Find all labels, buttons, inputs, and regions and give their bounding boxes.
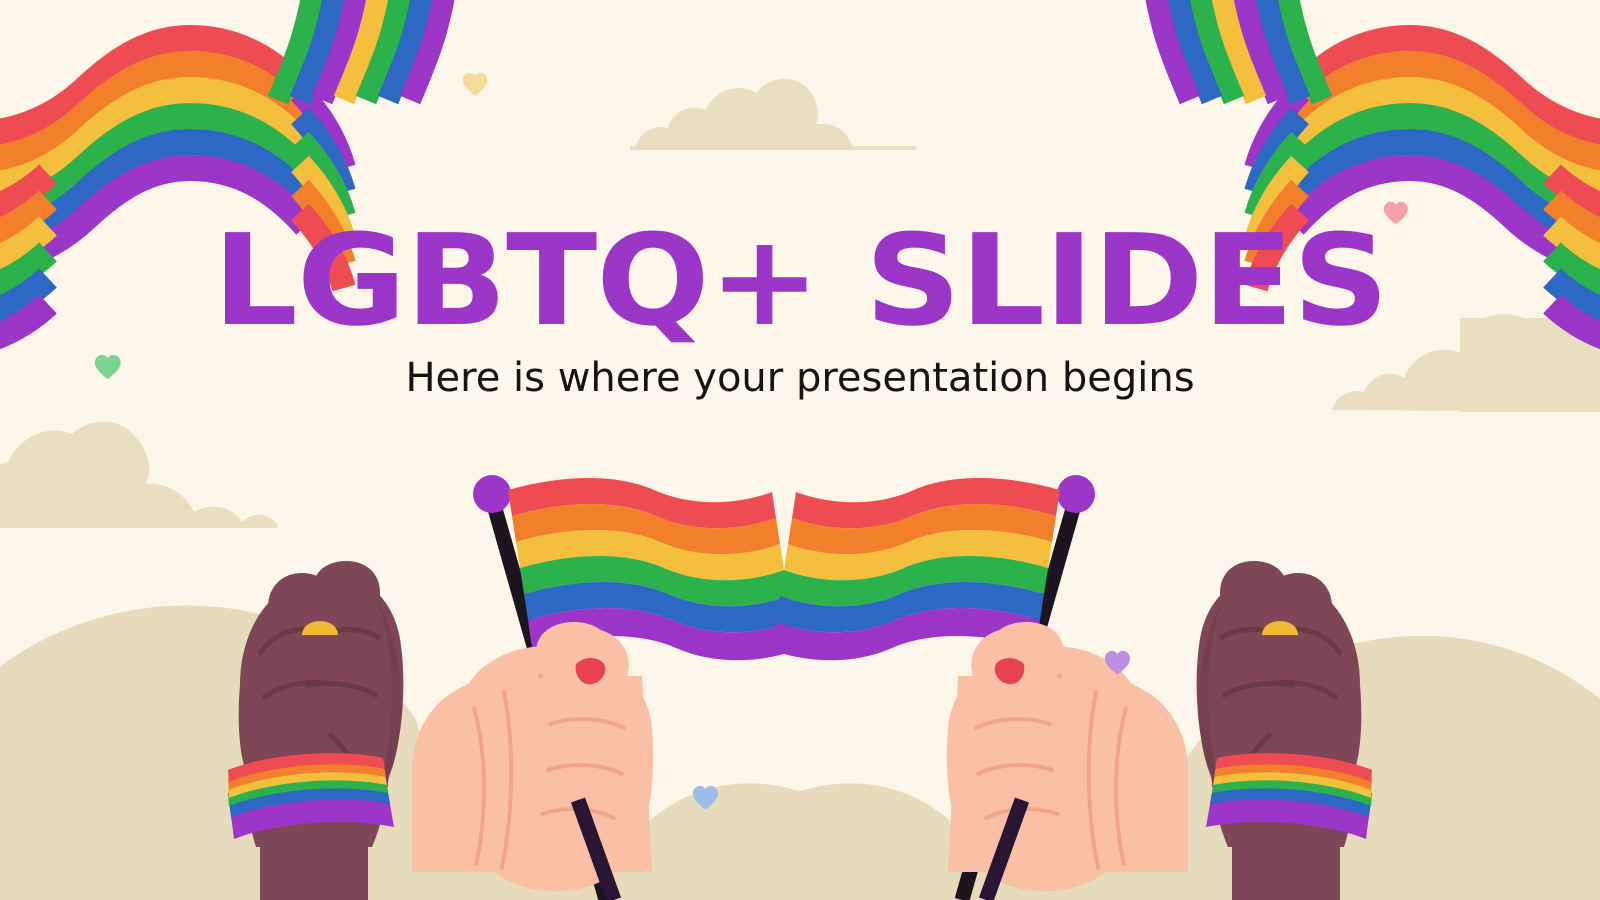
heart-yellow-shape — [463, 73, 488, 96]
flag-pole-knob-right — [1057, 475, 1095, 513]
raised-fist-left — [228, 561, 403, 900]
heart-blue-shape — [693, 786, 718, 810]
foreground-illustration-layer — [0, 0, 1600, 900]
flag-hand-right — [947, 622, 1188, 891]
flag-hand-left — [412, 622, 653, 891]
presentation-slide: LGBTQ+ SLIDES Here is where your present… — [0, 0, 1600, 900]
raised-fist-right — [1197, 561, 1372, 900]
flag-pole-knob-left — [473, 475, 511, 513]
heart-green-shape — [95, 355, 121, 379]
heart-pink-shape — [1384, 202, 1408, 224]
